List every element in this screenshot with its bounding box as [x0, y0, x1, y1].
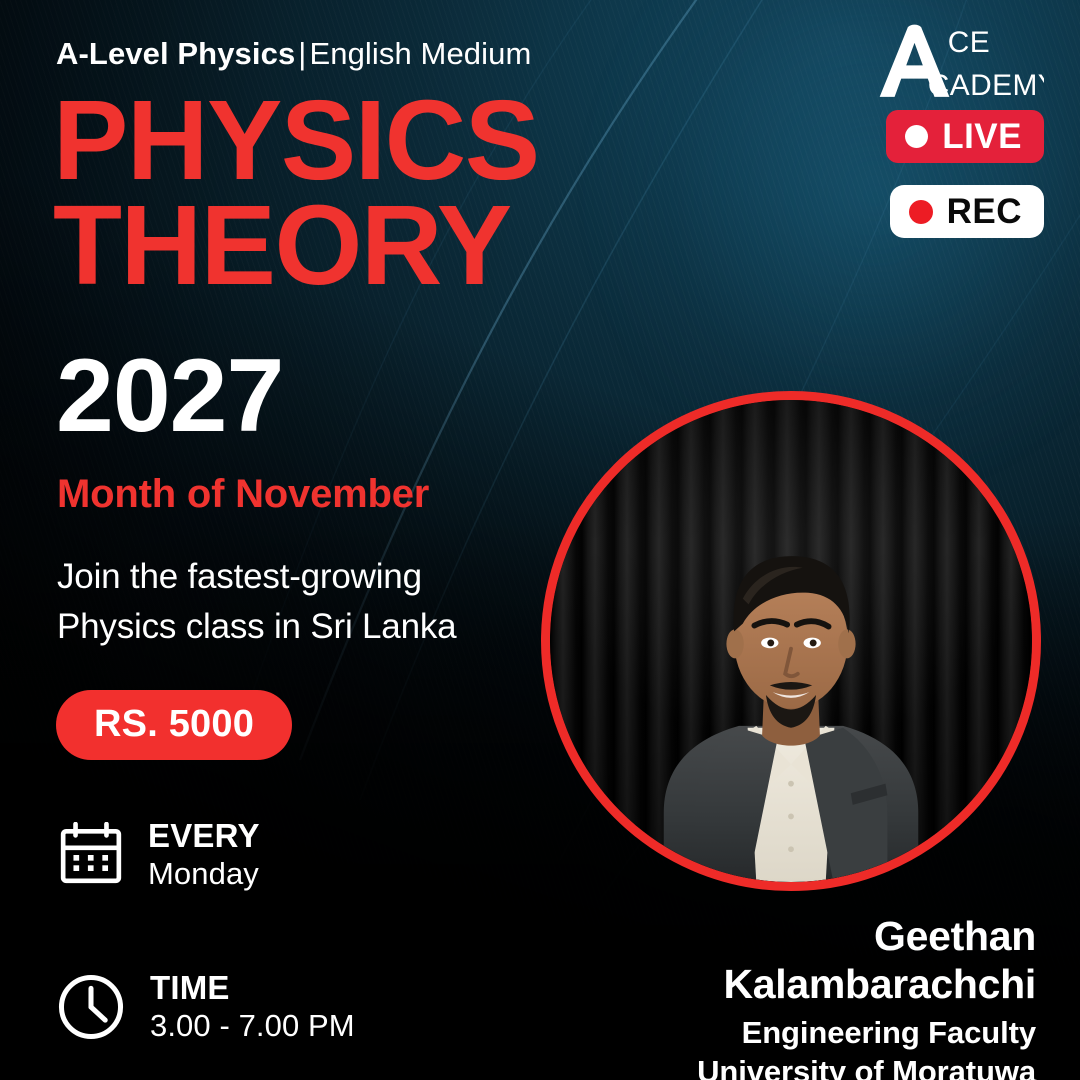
headline-line-2: THEORY	[53, 193, 539, 298]
schedule-time-title: TIME	[150, 970, 355, 1007]
rec-dot-icon	[909, 200, 933, 224]
live-badge-label: LIVE	[942, 119, 1022, 154]
instructor-photo	[541, 391, 1041, 891]
month-label: Month of November	[57, 470, 429, 518]
live-badge: LIVE	[886, 110, 1044, 163]
tagline: Join the fastest-growing Physics class i…	[57, 552, 456, 651]
instructor-portrait-figure	[550, 400, 1032, 882]
kicker-separator: |	[298, 36, 306, 71]
course-kicker: A-Level Physics|English Medium	[56, 36, 531, 72]
live-dot-icon	[905, 125, 928, 148]
tagline-line-1: Join the fastest-growing	[57, 552, 456, 602]
schedule-day-row: EVERY Monday	[58, 818, 260, 893]
main-headline: PHYSICS THEORY	[53, 88, 539, 298]
logo-line1: CE	[948, 26, 990, 59]
logo-line2: CADEMY	[928, 69, 1044, 102]
instructor-name: Geethan Kalambarachchi	[560, 912, 1036, 1009]
schedule-day-text: EVERY Monday	[148, 818, 260, 893]
ace-academy-logo: CE CADEMY	[878, 20, 1044, 104]
schedule-day-value: Monday	[148, 855, 260, 893]
schedule-time-row: TIME 3.00 - 7.00 PM	[56, 970, 355, 1045]
schedule-time-text: TIME 3.00 - 7.00 PM	[150, 970, 355, 1045]
price-badge[interactable]: RS. 5000	[56, 690, 292, 760]
instructor-photo-inner	[550, 400, 1032, 882]
clock-icon	[56, 972, 126, 1042]
rec-badge-label: REC	[947, 194, 1022, 229]
calendar-icon	[58, 822, 124, 888]
headline-line-1: PHYSICS	[53, 88, 539, 193]
schedule-day-title: EVERY	[148, 818, 260, 855]
kicker-medium: English Medium	[309, 36, 531, 71]
kicker-subject: A-Level Physics	[56, 36, 295, 71]
schedule-time-value: 3.00 - 7.00 PM	[150, 1007, 355, 1045]
batch-year: 2027	[56, 344, 283, 448]
instructor-details: Geethan Kalambarachchi Engineering Facul…	[560, 912, 1036, 1080]
tagline-line-2: Physics class in Sri Lanka	[57, 602, 456, 652]
rec-badge: REC	[890, 185, 1044, 238]
instructor-role: Engineering Faculty	[560, 1013, 1036, 1053]
promo-poster: A-Level Physics|English Medium CE CADEMY…	[0, 0, 1080, 1080]
instructor-org: University of Moratuwa	[560, 1052, 1036, 1080]
